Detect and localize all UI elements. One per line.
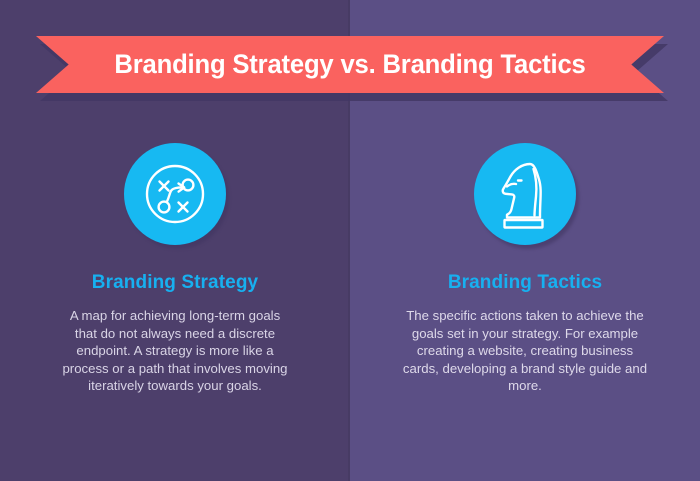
- body-branding-strategy: A map for achieving long-term goals that…: [60, 307, 290, 395]
- heading-branding-tactics: Branding Tactics: [448, 272, 602, 294]
- infographic-canvas: Branding Strategy vs. Branding Tactics: [0, 0, 700, 481]
- tactics-icon-holder: [474, 120, 576, 232]
- column-branding-strategy: Branding Strategy A map for achieving lo…: [0, 120, 350, 395]
- heading-branding-strategy: Branding Strategy: [92, 272, 258, 294]
- column-branding-tactics: Branding Tactics The specific actions ta…: [350, 120, 700, 395]
- title-banner: Branding Strategy vs. Branding Tactics: [36, 36, 664, 93]
- chess-knight-icon: [474, 143, 576, 245]
- strategy-icon-holder: [124, 120, 226, 232]
- body-branding-tactics: The specific actions taken to achieve th…: [401, 307, 649, 395]
- title-banner-ribbon: Branding Strategy vs. Branding Tactics: [36, 36, 664, 93]
- page-title: Branding Strategy vs. Branding Tactics: [114, 49, 585, 80]
- strategy-playbook-icon: [124, 143, 226, 245]
- columns-container: Branding Strategy A map for achieving lo…: [0, 120, 700, 395]
